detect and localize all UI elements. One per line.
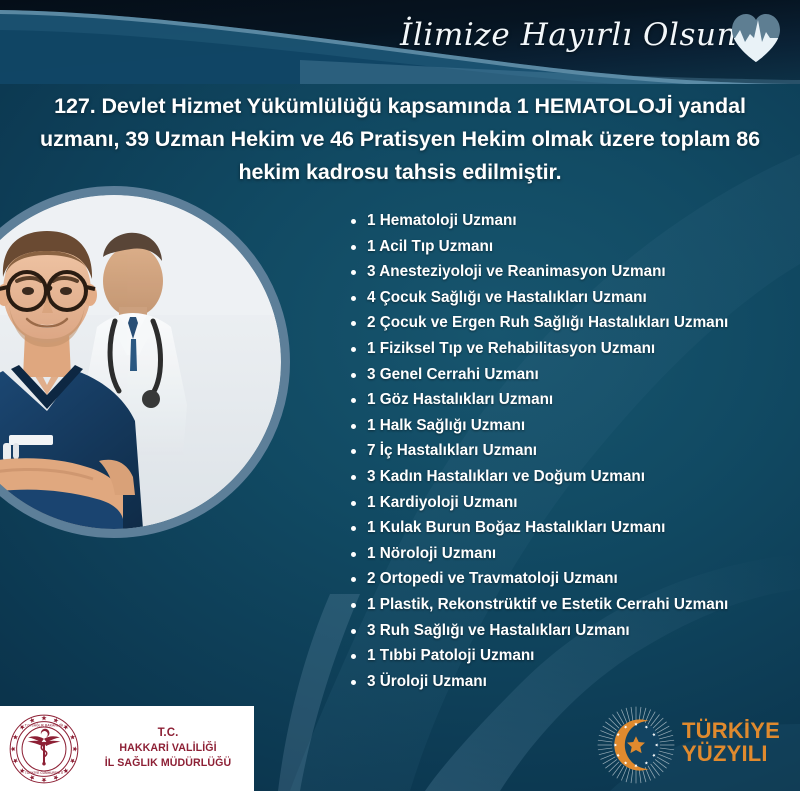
list-item: 7 İç Hastalıkları Uzmanı [348, 438, 796, 464]
heart-ecg-logo-icon [726, 8, 786, 68]
specialist-allocation-list: 1 Hematoloji Uzmanı 1 Acil Tıp Uzmanı 3 … [348, 208, 796, 694]
svg-text:T.C. SAĞLIK BAKANLIĞI: T.C. SAĞLIK BAKANLIĞI [25, 722, 64, 727]
list-item: 3 Anesteziyoloji ve Reanimasyon Uzmanı [348, 259, 796, 285]
list-item: 1 Plastik, Rekonstrüktif ve Estetik Cerr… [348, 592, 796, 618]
list-item: 3 Ruh Sağlığı ve Hastalıkları Uzmanı [348, 618, 796, 644]
government-badge-text: T.C. HAKKARİ VALİLİĞİ İL SAĞLIK MÜDÜRLÜĞ… [86, 726, 254, 771]
svg-text:TÜRKİYE CUMHURİYETİ: TÜRKİYE CUMHURİYETİ [25, 771, 63, 775]
century-line-2: YÜZYILI [682, 742, 780, 765]
ministry-of-health-seal-icon: T.C. SAĞLIK BAKANLIĞI TÜRKİYE CUMHURİYET… [8, 713, 80, 785]
list-item: 1 Fiziksel Tıp ve Rehabilitasyon Uzmanı [348, 336, 796, 362]
page-headline: 127. Devlet Hizmet Yükümlülüğü kapsamınd… [22, 90, 778, 189]
gov-line-3: İL SAĞLIK MÜDÜRLÜĞÜ [86, 756, 250, 771]
crescent-star-rays-icon [596, 705, 676, 785]
poster-header: İlimize Hayırlı Olsun [0, 0, 800, 84]
turkiye-yuzyili-text: TÜRKİYE YÜZYILI [682, 719, 780, 765]
list-item: 1 Hematoloji Uzmanı [348, 208, 796, 234]
gov-line-1: T.C. [86, 726, 250, 741]
list-item: 1 Nöroloji Uzmanı [348, 541, 796, 567]
list-item: 3 Üroloji Uzmanı [348, 669, 796, 695]
list-item: 3 Genel Cerrahi Uzmanı [348, 362, 796, 388]
list-item: 1 Kardiyoloji Uzmanı [348, 490, 796, 516]
list-item: 1 Göz Hastalıkları Uzmanı [348, 387, 796, 413]
header-script-title: İlimize Hayırlı Olsun [400, 16, 720, 54]
poster-root: İlimize Hayırlı Olsun 127. Devlet Hizmet… [0, 0, 800, 791]
list-item: 1 Kulak Burun Boğaz Hastalıkları Uzmanı [348, 515, 796, 541]
list-item: 1 Halk Sağlığı Uzmanı [348, 413, 796, 439]
list-item: 4 Çocuk Sağlığı ve Hastalıkları Uzmanı [348, 285, 796, 311]
list-item: 1 Tıbbi Patoloji Uzmanı [348, 643, 796, 669]
list-item: 2 Ortopedi ve Travmatoloji Uzmanı [348, 566, 796, 592]
list-item: 1 Acil Tıp Uzmanı [348, 234, 796, 260]
turkiye-yuzyili-logo: TÜRKİYE YÜZYILI [596, 705, 792, 785]
century-line-1: TÜRKİYE [682, 719, 780, 742]
list-item: 3 Kadın Hastalıkları ve Doğum Uzmanı [348, 464, 796, 490]
doctors-photo [0, 186, 290, 538]
gov-line-2: HAKKARİ VALİLİĞİ [86, 741, 250, 756]
list-item: 2 Çocuk ve Ergen Ruh Sağlığı Hastalıklar… [348, 310, 796, 336]
government-badge: T.C. SAĞLIK BAKANLIĞI TÜRKİYE CUMHURİYET… [0, 706, 254, 791]
